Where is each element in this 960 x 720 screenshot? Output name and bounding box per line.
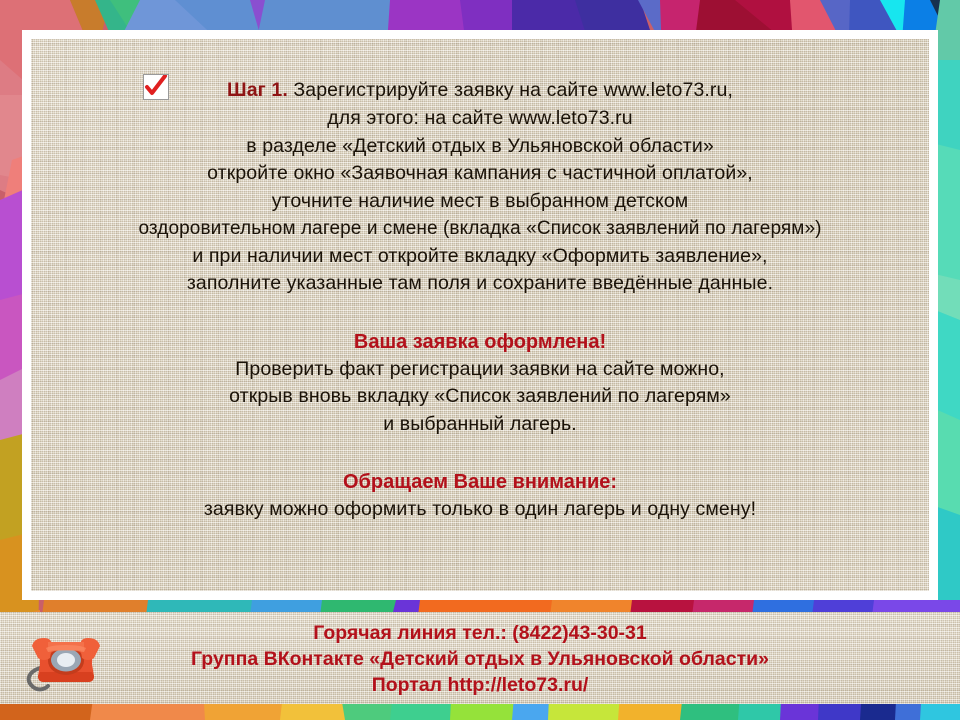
slide-root: Шаг 1. Зарегистрируйте заявку на сайте w… <box>0 0 960 720</box>
confirmation-heading: Ваша заявка оформлена! <box>31 328 929 356</box>
checked-checkbox-icon <box>143 74 169 100</box>
main-content-panel: Шаг 1. Зарегистрируйте заявку на сайте w… <box>22 30 938 600</box>
footer-band: Горячая линия тел.: (8422)43-30-31 Групп… <box>0 612 960 704</box>
spacer <box>31 438 929 468</box>
footer-vk-group-line: Группа ВКонтакте «Детский отдых в Ульяно… <box>0 646 960 672</box>
footer-text-block: Горячая линия тел.: (8422)43-30-31 Групп… <box>0 620 960 698</box>
instruction-line: в разделе «Детский отдых в Ульяновской о… <box>31 133 929 161</box>
attention-heading: Обращаем Ваше внимание: <box>31 468 929 496</box>
content-area: Шаг 1. Зарегистрируйте заявку на сайте w… <box>31 39 929 591</box>
instruction-line: заполните указанные там поля и сохраните… <box>31 270 929 298</box>
footer-hotline-line: Горячая линия тел.: (8422)43-30-31 <box>0 620 960 646</box>
instruction-line: уточните наличие мест в выбранном детско… <box>31 188 929 216</box>
instruction-line: и при наличии мест откройте вкладку «Офо… <box>31 243 929 271</box>
confirmation-line: Проверить факт регистрации заявки на сай… <box>31 356 929 384</box>
step-1-row: Шаг 1. Зарегистрируйте заявку на сайте w… <box>31 77 929 105</box>
spacer <box>31 298 929 328</box>
linen-surface: Шаг 1. Зарегистрируйте заявку на сайте w… <box>31 39 929 591</box>
instruction-line: для этого: на сайте www.leto73.ru <box>31 105 929 133</box>
instruction-line: оздоровительном лагере и смене (вкладка … <box>31 215 929 243</box>
step-1-label: Шаг 1. <box>227 79 288 101</box>
attention-line: заявку можно оформить только в один лаге… <box>31 496 929 524</box>
instruction-line: откройте окно «Заявочная кампания с част… <box>31 160 929 188</box>
footer-portal-line[interactable]: Портал http://leto73.ru/ <box>0 672 960 698</box>
step-1-text-line: Шаг 1. Зарегистрируйте заявку на сайте w… <box>227 79 733 101</box>
confirmation-line: открыв вновь вкладку «Список заявлений п… <box>31 383 929 411</box>
confirmation-line: и выбранный лагерь. <box>31 411 929 439</box>
step-1-instruction: Зарегистрируйте заявку на сайте www.leto… <box>288 79 733 101</box>
